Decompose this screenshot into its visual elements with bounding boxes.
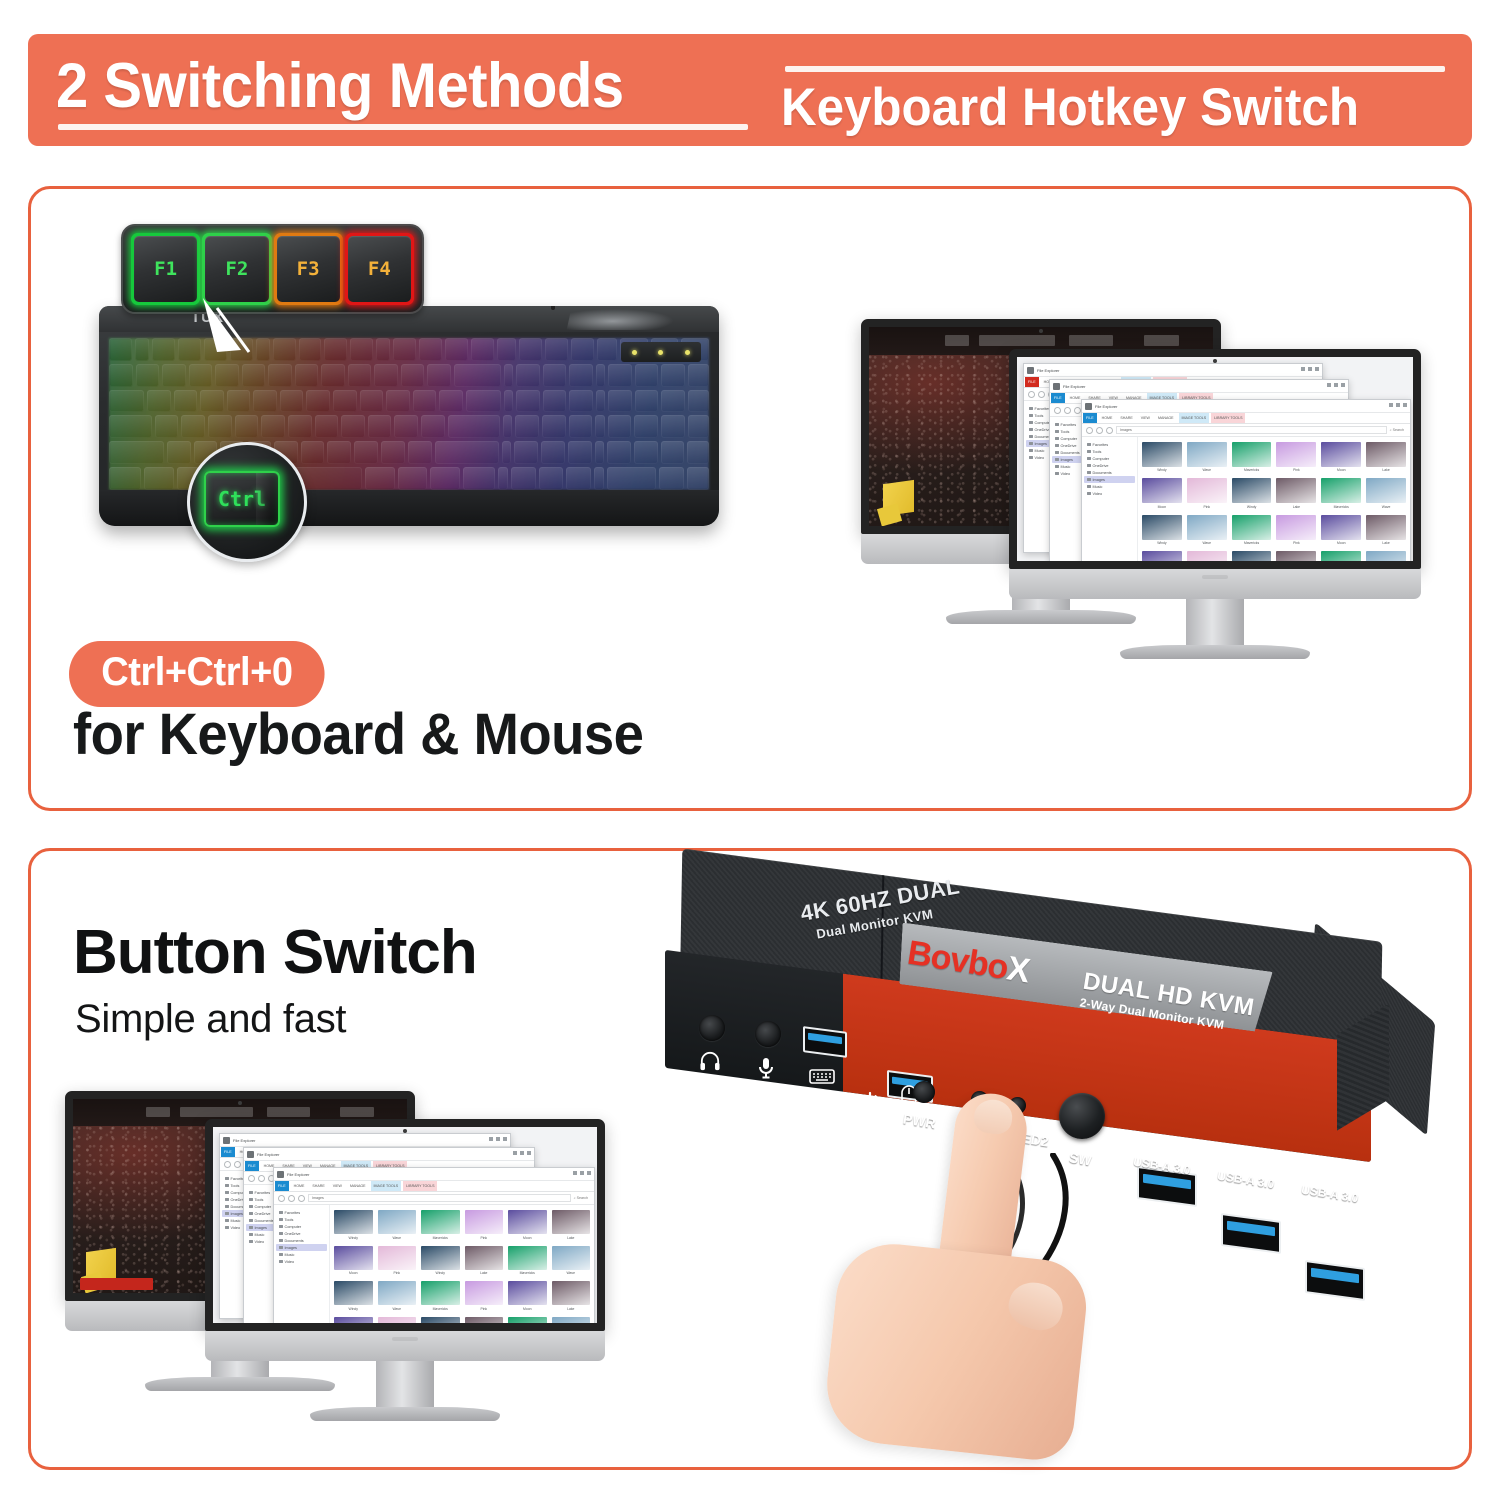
keyboard-key[interactable] — [288, 415, 312, 438]
sidebar-item-tools[interactable]: Tools — [276, 1216, 327, 1223]
keyboard-key[interactable] — [608, 390, 632, 413]
keyboard-key[interactable] — [516, 364, 540, 387]
keyboard-key[interactable] — [324, 338, 347, 361]
fkey-f2[interactable]: F2 — [202, 233, 271, 305]
thumbnail-item[interactable]: Windy — [1232, 551, 1272, 569]
back-icon[interactable] — [1054, 407, 1061, 414]
keyboard-key[interactable] — [360, 390, 384, 413]
thumbnail-item[interactable]: Mavericks — [1321, 478, 1361, 508]
fkey-f4[interactable]: F4 — [345, 233, 414, 305]
keyboard-key[interactable] — [635, 390, 659, 413]
keyboard-key[interactable] — [435, 441, 499, 464]
keyboard-key[interactable] — [687, 467, 709, 490]
keyboard-key[interactable] — [430, 467, 460, 490]
keyboard-key[interactable] — [504, 390, 513, 413]
sidebar-item-icon — [279, 1232, 283, 1236]
keyboard-key[interactable] — [571, 338, 594, 361]
keyboard-key[interactable] — [595, 415, 604, 438]
sidebar-item-icon — [279, 1225, 283, 1229]
caps-lock-led — [658, 350, 663, 355]
keyboard-key[interactable] — [463, 467, 495, 490]
keyboard-key[interactable] — [595, 441, 605, 464]
thumbnail-item[interactable]: Pink — [465, 1210, 504, 1240]
keyboard-key[interactable] — [597, 338, 618, 361]
ribbon-tab-library-tools[interactable]: LIBRARY TOOLS — [403, 1181, 437, 1191]
keyboard-key[interactable] — [516, 390, 540, 413]
keyboard-key[interactable] — [439, 390, 463, 413]
thumbnail-item[interactable]: Wave — [552, 1246, 591, 1276]
minimize-icon[interactable] — [513, 1151, 517, 1155]
thumbnail-image — [508, 1317, 547, 1331]
keyboard-key[interactable] — [109, 338, 132, 361]
keyboard-key[interactable] — [634, 441, 658, 464]
maximize-icon[interactable] — [1334, 383, 1338, 387]
header-title-underline — [58, 124, 748, 130]
sidebar-item-computer[interactable]: Computer — [276, 1223, 327, 1230]
ribbon-tab-library-tools[interactable]: LIBRARY TOOLS — [1211, 413, 1245, 423]
close-icon[interactable] — [1403, 403, 1407, 407]
headphone-jack[interactable] — [699, 1015, 725, 1041]
ribbon-tab-manage[interactable]: MANAGE — [1155, 413, 1177, 423]
ribbon-tab-file[interactable]: FILE — [1025, 377, 1039, 387]
back-icon[interactable] — [248, 1175, 255, 1182]
search-input[interactable]: ⌕ Search — [574, 1196, 590, 1200]
thumbnail-item[interactable]: Wave — [378, 1210, 417, 1240]
keyboard-key[interactable] — [394, 415, 418, 438]
keyboard-key[interactable] — [419, 338, 442, 361]
minimize-icon[interactable] — [489, 1137, 493, 1141]
keyboard-key[interactable] — [504, 364, 513, 387]
thumbnail-item[interactable]: Mavericks — [508, 1317, 547, 1331]
explorer-ribbon[interactable]: FILEHOMESHAREVIEWMANAGEIMAGE TOOLSLIBRAR… — [1082, 413, 1410, 424]
keyboard-key[interactable] — [688, 390, 709, 413]
thumbnail-item[interactable]: Pink — [1187, 478, 1227, 508]
close-icon[interactable] — [587, 1171, 591, 1175]
keyboard-key[interactable] — [569, 390, 593, 413]
keyboard-key[interactable] — [327, 441, 351, 464]
keyboard-key[interactable] — [607, 467, 656, 490]
keyboard-key[interactable] — [348, 364, 372, 387]
close-icon[interactable] — [1315, 367, 1319, 371]
forward-icon[interactable] — [1038, 391, 1045, 398]
monitor-explorer-2: File ExplorerFILEHOMESHAREVIEWMANAGEIMAG… — [205, 1119, 605, 1421]
thumbnail-item[interactable]: Lake — [552, 1281, 591, 1311]
keyboard-key[interactable] — [189, 364, 213, 387]
keyboard-key[interactable] — [230, 338, 253, 361]
thumbnail-item[interactable]: Moon — [508, 1210, 547, 1240]
keyboard-key[interactable] — [659, 467, 684, 490]
keyboard-key[interactable] — [511, 467, 536, 490]
keyboard-key[interactable] — [204, 338, 227, 361]
sidebar-item-label: Video — [255, 1240, 265, 1244]
keyboard-key[interactable] — [256, 338, 270, 361]
keyboard-key[interactable] — [687, 441, 708, 464]
forward-icon[interactable] — [1064, 407, 1071, 414]
keyboard-key[interactable] — [109, 415, 152, 438]
keyboard-key[interactable] — [109, 467, 141, 490]
keyboard-key[interactable] — [634, 415, 658, 438]
keyboard-key[interactable] — [545, 338, 568, 361]
ribbon-tab-image-tools[interactable]: IMAGE TOOLS — [371, 1181, 402, 1191]
breadcrumb[interactable]: Images — [1116, 426, 1387, 434]
thumbnail-image — [1142, 442, 1182, 467]
ctrl-key[interactable]: Ctrl — [204, 471, 280, 527]
keyboard-key[interactable] — [503, 415, 512, 438]
minimize-icon[interactable] — [1301, 367, 1305, 371]
keyboard-key[interactable] — [514, 441, 538, 464]
keyboard-key[interactable] — [661, 364, 685, 387]
keyboard-key[interactable] — [381, 441, 405, 464]
sidebar-item-video[interactable]: Video — [1084, 490, 1135, 497]
back-icon[interactable] — [1086, 427, 1093, 434]
ribbon-tab-home[interactable]: HOME — [1099, 413, 1116, 423]
keyboard-key[interactable] — [608, 415, 632, 438]
window-controls[interactable] — [573, 1171, 591, 1175]
keyboard-key[interactable] — [174, 390, 198, 413]
sidebar-item-label: Documents — [1093, 471, 1112, 475]
fkey-callout-strip: F1 F2 F3 F4 — [121, 224, 424, 314]
thumbnail-item[interactable]: Windy — [334, 1281, 373, 1311]
monitor-explorer-base — [1120, 645, 1310, 659]
sidebar-item-label: Tools — [1061, 430, 1070, 434]
page-title: 2 Switching Methods — [56, 55, 624, 118]
keyboard-key[interactable] — [393, 338, 416, 361]
ribbon-tab-share[interactable]: SHARE — [309, 1181, 327, 1191]
keyboard-key[interactable] — [386, 390, 410, 413]
thumbnail-item[interactable]: Moon — [1142, 551, 1182, 569]
keyboard-key[interactable] — [301, 441, 325, 464]
ribbon-tab-file[interactable]: FILE — [275, 1181, 289, 1191]
keyboard-key[interactable] — [466, 390, 501, 413]
maximize-icon[interactable] — [580, 1171, 584, 1175]
keyboard-key[interactable] — [688, 415, 709, 438]
thumbnail-item[interactable]: Wave — [1366, 551, 1406, 569]
ribbon-tab-manage[interactable]: MANAGE — [347, 1181, 369, 1191]
webcam-dot — [403, 1129, 407, 1133]
keyboard-key[interactable] — [596, 390, 605, 413]
thumbnail-item[interactable]: Moon — [1321, 515, 1361, 545]
thumbnail-item[interactable]: Wave — [1187, 442, 1227, 472]
explorer-titlebar[interactable]: File Explorer — [1024, 364, 1322, 377]
sidebar-item-tools[interactable]: Tools — [1084, 448, 1135, 455]
minimize-icon[interactable] — [1389, 403, 1393, 407]
sidebar-item-images[interactable]: Images — [1084, 476, 1135, 483]
keyboard-key[interactable] — [661, 390, 685, 413]
keyboard-key[interactable] — [109, 364, 133, 387]
ribbon-tab-file[interactable]: FILE — [245, 1161, 259, 1171]
keyboard-key[interactable] — [144, 467, 174, 490]
maximize-icon[interactable] — [496, 1137, 500, 1141]
explorer-ribbon[interactable]: FILEHOMESHAREVIEWMANAGEIMAGE TOOLSLIBRAR… — [274, 1181, 594, 1192]
ribbon-tab-home[interactable]: HOME — [291, 1181, 308, 1191]
thumbnail-item[interactable]: Lake — [465, 1317, 504, 1331]
sidebar-item-icon — [279, 1246, 283, 1250]
header-subtitle: Keyboard Hotkey Switch — [781, 80, 1359, 136]
keyboard-key[interactable] — [542, 415, 566, 438]
thumbnail-item[interactable]: Mavericks — [421, 1210, 460, 1240]
thumbnail-item[interactable]: Windy — [1142, 442, 1182, 472]
keyboard-key[interactable] — [321, 364, 345, 387]
sidebar-item-icon — [225, 1191, 229, 1195]
keyboard-key[interactable] — [569, 364, 593, 387]
keyboard-key[interactable] — [315, 415, 339, 438]
sidebar-item-icon — [249, 1226, 253, 1230]
keyboard-key[interactable] — [227, 390, 251, 413]
ribbon-tab-view[interactable]: VIEW — [330, 1181, 345, 1191]
back-icon[interactable] — [1028, 391, 1035, 398]
thumbnail-item[interactable]: Wave — [378, 1281, 417, 1311]
thumbnail-item[interactable]: Lake — [465, 1246, 504, 1276]
keyboard-key[interactable] — [109, 441, 164, 464]
thumbnail-item[interactable]: Moon — [334, 1246, 373, 1276]
maximize-icon[interactable] — [1308, 367, 1312, 371]
keyboard-key[interactable] — [568, 441, 592, 464]
keyboard-key[interactable] — [136, 364, 160, 387]
keyboard-key[interactable] — [147, 390, 171, 413]
thumbnail-image — [378, 1210, 417, 1234]
keyboard-key[interactable] — [688, 364, 709, 387]
sidebar-item-favorites[interactable]: Favorites — [1084, 441, 1135, 448]
sidebar-item-documents[interactable]: Documents — [1084, 469, 1135, 476]
folder-icon — [223, 1137, 230, 1144]
thumbnail-item[interactable]: Moon — [1142, 478, 1182, 508]
sidebar-item-music[interactable]: Music — [276, 1251, 327, 1258]
keyboard-row — [109, 415, 709, 438]
keyboard-key[interactable] — [155, 415, 179, 438]
keyboard-key[interactable] — [661, 441, 685, 464]
keyboard-key[interactable] — [502, 441, 512, 464]
thumbnail-image — [1366, 478, 1406, 503]
thumbnail-grid: WindyWaveMavericksPinkMoonLakeMoonPinkWi… — [330, 1205, 594, 1331]
keyboard-key[interactable] — [543, 390, 567, 413]
webcam-dot — [1039, 329, 1043, 333]
thumbnail-item[interactable]: Windy — [1142, 515, 1182, 545]
maximize-icon[interactable] — [1396, 403, 1400, 407]
keyboard-key[interactable] — [541, 441, 565, 464]
keyboard-key[interactable] — [408, 441, 432, 464]
forward-icon[interactable] — [288, 1195, 295, 1202]
sidebar-item-label: Computer — [1093, 457, 1110, 461]
keyboard-key[interactable] — [471, 338, 494, 361]
keyboard-key[interactable] — [566, 467, 591, 490]
minimize-icon[interactable] — [573, 1171, 577, 1175]
thumbnail-item[interactable]: Moon — [334, 1317, 373, 1331]
thumbnail-item[interactable]: Pink — [378, 1246, 417, 1276]
thumbnail-item[interactable]: Windy — [421, 1317, 460, 1331]
sidebar-item-onedrive[interactable]: OneDrive — [276, 1230, 327, 1237]
usb-port-3[interactable] — [1305, 1260, 1365, 1301]
thumbnail-item[interactable]: Wave — [552, 1317, 591, 1331]
keyboard-key[interactable] — [268, 364, 292, 387]
usb-port-2[interactable] — [1221, 1213, 1281, 1254]
close-icon[interactable] — [503, 1137, 507, 1141]
keyboard-key[interactable] — [341, 415, 365, 438]
thumbnail-item[interactable]: Wave — [1366, 478, 1406, 508]
keyboard-key[interactable] — [539, 467, 564, 490]
keyboard-key[interactable] — [135, 338, 149, 361]
thumbnail-item[interactable]: Moon — [508, 1281, 547, 1311]
sidebar-item-computer[interactable]: Computer — [1084, 455, 1135, 462]
explorer-navbar[interactable]: Images⌕ Search — [1082, 424, 1410, 437]
sidebar-item-icon — [1055, 465, 1059, 469]
keyboard-key[interactable] — [608, 364, 632, 387]
up-icon[interactable] — [1106, 427, 1113, 434]
explorer-sidebar[interactable]: FavoritesToolsComputerOneDriveDocumentsI… — [274, 1205, 330, 1331]
keyboard-key[interactable] — [413, 390, 437, 413]
thumbnail-item[interactable]: Pink — [1276, 515, 1316, 545]
keyboard-key[interactable] — [200, 390, 224, 413]
sidebar-item-documents[interactable]: Documents — [276, 1237, 327, 1244]
thumbnail-item[interactable]: Lake — [552, 1210, 591, 1240]
thumbnail-item[interactable]: Mavericks — [421, 1281, 460, 1311]
thumbnail-item[interactable]: Mavericks — [1232, 442, 1272, 472]
keyboard-key[interactable] — [350, 338, 373, 361]
thumbnail-item[interactable]: Windy — [334, 1210, 373, 1240]
keyboard-key[interactable] — [109, 390, 144, 413]
keyboard-key[interactable] — [253, 390, 277, 413]
keyboard-key[interactable] — [596, 364, 605, 387]
thumbnail-item[interactable]: Moon — [1321, 442, 1361, 472]
thumbnail-item[interactable]: Mavericks — [1232, 515, 1272, 545]
window-controls[interactable] — [489, 1137, 507, 1141]
back-icon[interactable] — [278, 1195, 285, 1202]
ribbon-tab-file[interactable]: FILE — [1051, 393, 1065, 403]
keyboard-key[interactable] — [515, 415, 539, 438]
explorer-titlebar[interactable]: File Explorer — [244, 1148, 534, 1161]
ribbon-tab-file[interactable]: FILE — [221, 1147, 235, 1157]
keyboard-key[interactable] — [594, 467, 604, 490]
sidebar-item-video[interactable]: Video — [276, 1258, 327, 1265]
keyboard-key[interactable] — [374, 364, 398, 387]
thumbnail-item[interactable]: Lake — [1366, 515, 1406, 545]
sidebar-item-label: Documents — [1061, 451, 1080, 455]
keyboard-key[interactable] — [333, 390, 357, 413]
keyboard-key[interactable] — [661, 415, 685, 438]
thumbnail-item[interactable]: Lake — [1276, 551, 1316, 569]
thumbnail-item[interactable]: Pink — [465, 1281, 504, 1311]
keyboard-key[interactable] — [215, 364, 239, 387]
sidebar-item-label: Video — [1061, 472, 1071, 476]
close-icon[interactable] — [527, 1151, 531, 1155]
explorer-window-front[interactable]: File ExplorerFILEHOMESHAREVIEWMANAGEIMAG… — [273, 1167, 595, 1331]
forward-icon[interactable] — [1096, 427, 1103, 434]
thumbnail-item[interactable]: Pink — [1187, 551, 1227, 569]
thumbnail-caption: Mavericks — [433, 1236, 448, 1240]
keyboard-key[interactable] — [261, 415, 285, 438]
keyboard-key[interactable] — [242, 364, 266, 387]
thumbnail-caption: Windy — [1157, 541, 1166, 545]
keyboard-key[interactable] — [635, 364, 659, 387]
thumbnail-item[interactable]: Wave — [1187, 515, 1227, 545]
window-controls[interactable] — [513, 1151, 531, 1155]
keyboard-key[interactable] — [448, 415, 500, 438]
thumbnail-item[interactable]: Windy — [1232, 478, 1272, 508]
keyboard-key[interactable] — [398, 467, 428, 490]
sidebar-item-favorites[interactable]: Favorites — [276, 1209, 327, 1216]
forward-icon[interactable] — [234, 1161, 241, 1168]
explorer-titlebar[interactable]: File Explorer — [274, 1168, 594, 1181]
keyboard-key[interactable] — [208, 415, 232, 438]
explorer-window-front[interactable]: File ExplorerFILEHOMESHAREVIEWMANAGEIMAG… — [1081, 399, 1411, 569]
keyboard-key[interactable] — [365, 467, 395, 490]
explorer-titlebar[interactable]: File Explorer — [1050, 380, 1348, 393]
keyboard-key[interactable] — [235, 415, 259, 438]
keyboard-key[interactable] — [401, 364, 425, 387]
thumbnail-item[interactable]: Lake — [1366, 442, 1406, 472]
fkey-f3[interactable]: F3 — [274, 233, 343, 305]
keyboard-key[interactable] — [569, 415, 593, 438]
fkey-f1[interactable]: F1 — [131, 233, 200, 305]
thumbnail-item[interactable]: Pink — [1276, 442, 1316, 472]
keyboard-key[interactable] — [354, 441, 378, 464]
explorer-titlebar[interactable]: File Explorer — [220, 1134, 510, 1147]
thumbnail-item[interactable]: Mavericks — [1321, 551, 1361, 569]
keyboard-key[interactable] — [543, 364, 567, 387]
thumbnail-item[interactable]: Windy — [421, 1246, 460, 1276]
keyboard-key[interactable] — [299, 338, 322, 361]
keyboard-key[interactable] — [445, 338, 468, 361]
keyboard-key[interactable] — [421, 415, 445, 438]
microphone-jack[interactable] — [755, 1021, 781, 1047]
ribbon-tab-file[interactable]: FILE — [1083, 413, 1097, 423]
explorer-navbar[interactable]: Images⌕ Search — [274, 1192, 594, 1205]
up-icon[interactable] — [1074, 407, 1081, 414]
explorer-sidebar[interactable]: FavoritesToolsComputerOneDriveDocumentsI… — [1082, 437, 1138, 569]
keyboard-key[interactable] — [162, 364, 186, 387]
keyboard-key[interactable] — [295, 364, 319, 387]
minimize-icon[interactable] — [1327, 383, 1331, 387]
keyboard-key[interactable] — [181, 415, 205, 438]
sidebar-item-music[interactable]: Music — [1084, 483, 1135, 490]
thumbnail-image — [508, 1210, 547, 1234]
ribbon-tab-image-tools[interactable]: IMAGE TOOLS — [1179, 413, 1210, 423]
window-controls[interactable] — [1327, 383, 1345, 387]
search-input[interactable]: ⌕ Search — [1390, 428, 1406, 432]
ribbon-tab-view[interactable]: VIEW — [1138, 413, 1153, 423]
keyboard-key[interactable] — [497, 338, 515, 361]
maximize-icon[interactable] — [520, 1151, 524, 1155]
keyboard-key[interactable] — [167, 441, 191, 464]
sidebar-item-onedrive[interactable]: OneDrive — [1084, 462, 1135, 469]
up-icon[interactable] — [298, 1195, 305, 1202]
keyboard-key[interactable] — [152, 338, 175, 361]
window-controls[interactable] — [1301, 367, 1319, 371]
keyboard-key[interactable] — [376, 338, 390, 361]
keyboard-key[interactable] — [454, 364, 501, 387]
sidebar-item-images[interactable]: Images — [276, 1244, 327, 1251]
keyboard-key[interactable] — [519, 338, 542, 361]
keyboard-key[interactable] — [427, 364, 451, 387]
explorer-titlebar[interactable]: File Explorer — [1082, 400, 1410, 413]
keyboard-key[interactable] — [607, 441, 631, 464]
thumbnail-image — [421, 1210, 460, 1234]
forward-icon[interactable] — [258, 1175, 265, 1182]
keyboard-key[interactable] — [280, 390, 304, 413]
thumbnail-item[interactable]: Pink — [378, 1317, 417, 1331]
thumbnail-item[interactable]: Lake — [1276, 478, 1316, 508]
back-icon[interactable] — [224, 1161, 231, 1168]
ribbon-tab-share[interactable]: SHARE — [1117, 413, 1135, 423]
keyboard-key[interactable] — [273, 338, 296, 361]
close-icon[interactable] — [1341, 383, 1345, 387]
thumbnail-item[interactable]: Mavericks — [508, 1246, 547, 1276]
keyboard-key[interactable] — [498, 467, 508, 490]
breadcrumb[interactable]: Images — [308, 1194, 571, 1202]
keyboard-key[interactable] — [178, 338, 201, 361]
keyboard-key[interactable] — [306, 390, 330, 413]
window-controls[interactable] — [1389, 403, 1407, 407]
keyboard-key[interactable] — [368, 415, 392, 438]
